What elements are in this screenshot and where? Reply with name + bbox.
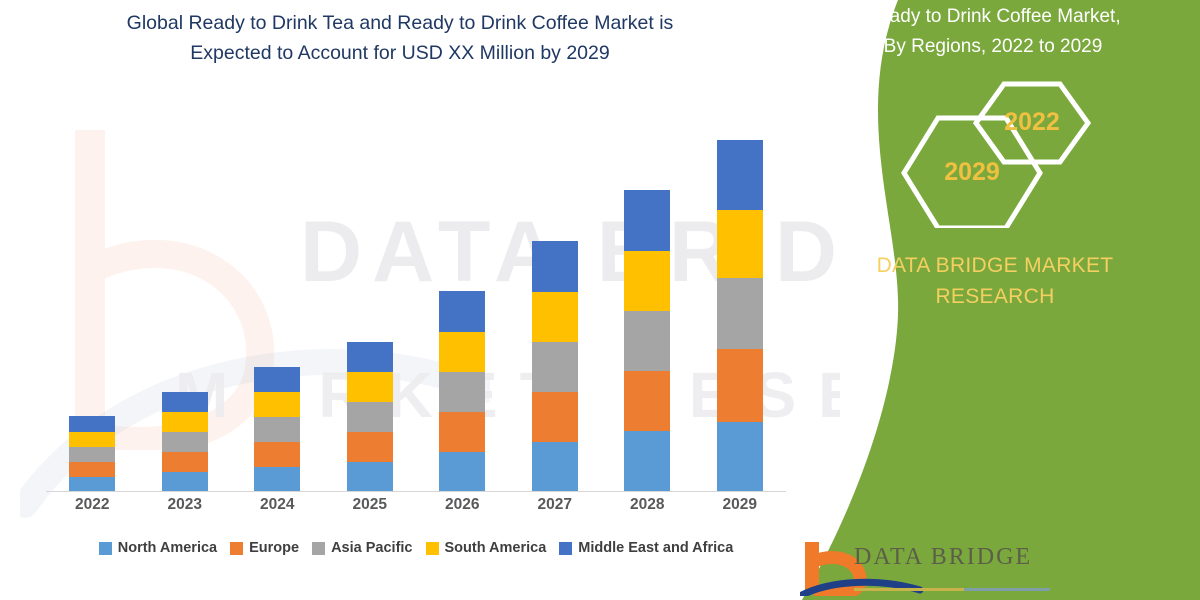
bar-segment[interactable] <box>254 392 300 417</box>
bar-group-2023 <box>139 100 232 492</box>
x-axis-line <box>46 491 786 492</box>
bar-segment[interactable] <box>347 402 393 432</box>
legend-item[interactable]: South America <box>426 540 547 556</box>
legend-swatch-icon <box>99 542 112 555</box>
stacked-bar[interactable] <box>439 291 485 492</box>
brand-name-line-1: DATA BRIDGE MARKET <box>820 250 1170 281</box>
legend-label: Europe <box>249 540 299 556</box>
chart-legend: North AmericaEuropeAsia PacificSouth Ame… <box>46 540 786 556</box>
stacked-bar[interactable] <box>162 392 208 492</box>
bar-segment[interactable] <box>162 392 208 412</box>
legend-swatch-icon <box>559 542 572 555</box>
x-axis-tick-2022: 2022 <box>46 496 139 514</box>
panel-title: Global Ready to Drink Tea and Ready to D… <box>800 0 1186 62</box>
bar-segment[interactable] <box>624 311 670 371</box>
brand-name-line-2: RESEARCH <box>820 281 1170 312</box>
panel-title-line-1: Ready to Drink Coffee Market, <box>800 2 1186 32</box>
bar-segment[interactable] <box>254 417 300 442</box>
bar-segment[interactable] <box>717 422 763 492</box>
bar-segment[interactable] <box>717 140 763 210</box>
company-logo-text: DATA BRIDGE <box>854 544 1032 571</box>
green-side-panel: Global Ready to Drink Tea and Ready to D… <box>780 0 1200 600</box>
bar-segment[interactable] <box>624 190 670 251</box>
bar-segment[interactable] <box>439 291 485 332</box>
panel-title-line-0: Global Ready to Drink Tea and <box>800 0 1186 2</box>
stacked-bar[interactable] <box>717 140 763 492</box>
chart-plot-area <box>46 100 786 492</box>
bar-group-2026 <box>416 100 509 492</box>
bar-segment[interactable] <box>162 432 208 452</box>
hexagon-label-2022: 2022 <box>976 108 1088 137</box>
legend-swatch-icon <box>312 542 325 555</box>
bar-segment[interactable] <box>69 416 115 432</box>
stacked-bar[interactable] <box>254 367 300 492</box>
page-title: Global Ready to Drink Tea and Ready to D… <box>40 8 760 68</box>
legend-swatch-icon <box>426 542 439 555</box>
bar-group-2029 <box>694 100 787 492</box>
bar-group-2022 <box>46 100 139 492</box>
legend-item[interactable]: North America <box>99 540 217 556</box>
hexagon-badges: 2022 2029 <box>780 78 1200 228</box>
x-axis-tick-2026: 2026 <box>416 496 509 514</box>
legend-label: Middle East and Africa <box>578 540 733 556</box>
stacked-bar[interactable] <box>532 241 578 492</box>
legend-label: North America <box>118 540 217 556</box>
bar-segment[interactable] <box>624 431 670 492</box>
legend-label: South America <box>445 540 547 556</box>
bar-group-2028 <box>601 100 694 492</box>
x-axis-tick-2028: 2028 <box>601 496 694 514</box>
legend-label: Asia Pacific <box>331 540 412 556</box>
bar-segment[interactable] <box>162 472 208 492</box>
bar-segment[interactable] <box>532 342 578 392</box>
bar-segment[interactable] <box>717 278 763 349</box>
bar-segment[interactable] <box>624 371 670 431</box>
bar-group-2024 <box>231 100 324 492</box>
bar-segment[interactable] <box>347 432 393 462</box>
page-title-line-1: Global Ready to Drink Tea and Ready to D… <box>40 8 760 38</box>
bar-segment[interactable] <box>532 392 578 442</box>
stacked-bar[interactable] <box>69 416 115 492</box>
stacked-bar[interactable] <box>624 190 670 492</box>
stacked-bar-chart <box>46 100 786 492</box>
bar-segment[interactable] <box>347 342 393 372</box>
bar-group-2025 <box>324 100 417 492</box>
bar-segment[interactable] <box>254 367 300 392</box>
x-axis-tick-2029: 2029 <box>694 496 787 514</box>
x-axis-tick-labels: 20222023202420252026202720282029 <box>46 496 786 514</box>
panel-title-line-2: By Regions, 2022 to 2029 <box>800 32 1186 62</box>
bar-group-2027 <box>509 100 602 492</box>
hexagon-label-2029: 2029 <box>904 158 1040 187</box>
bar-segment[interactable] <box>254 467 300 492</box>
bar-segment[interactable] <box>347 372 393 402</box>
legend-item[interactable]: Middle East and Africa <box>559 540 733 556</box>
bar-segment[interactable] <box>69 477 115 492</box>
x-axis-tick-2025: 2025 <box>324 496 417 514</box>
legend-item[interactable]: Europe <box>230 540 299 556</box>
x-axis-tick-2024: 2024 <box>231 496 324 514</box>
bar-segment[interactable] <box>69 432 115 447</box>
bar-segment[interactable] <box>717 210 763 278</box>
page-title-line-2: Expected to Account for USD XX Million b… <box>40 38 760 68</box>
bar-segment[interactable] <box>439 452 485 492</box>
x-axis-tick-2027: 2027 <box>509 496 602 514</box>
bar-segment[interactable] <box>532 442 578 492</box>
bar-segment[interactable] <box>254 442 300 467</box>
bar-segment[interactable] <box>439 332 485 372</box>
stacked-bar[interactable] <box>347 342 393 492</box>
bar-segment[interactable] <box>532 292 578 342</box>
bar-segment[interactable] <box>69 447 115 462</box>
bar-segment[interactable] <box>717 349 763 422</box>
bar-segment[interactable] <box>347 462 393 492</box>
legend-swatch-icon <box>230 542 243 555</box>
bar-segment[interactable] <box>162 412 208 432</box>
bar-segment[interactable] <box>439 372 485 412</box>
bar-segment[interactable] <box>624 251 670 311</box>
x-axis-tick-2023: 2023 <box>139 496 232 514</box>
legend-item[interactable]: Asia Pacific <box>312 540 412 556</box>
hexagon-badge-shapes <box>780 78 1200 228</box>
bar-segment[interactable] <box>162 452 208 472</box>
bar-segment[interactable] <box>532 241 578 292</box>
brand-name: DATA BRIDGE MARKET RESEARCH <box>820 250 1170 312</box>
bar-segment[interactable] <box>439 412 485 452</box>
company-logo: DATA BRIDGE <box>800 538 1200 596</box>
infographic-canvas: DATA BRIDGE MARKET RESEARCH Global Ready… <box>0 0 1200 600</box>
bar-segment[interactable] <box>69 462 115 477</box>
